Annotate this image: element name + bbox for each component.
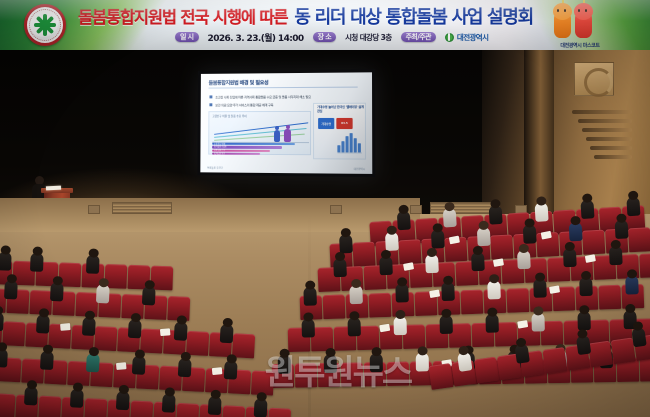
mascot-caption: 대전광역시 마스코트 <box>552 42 608 49</box>
figure-icon-blue <box>274 130 280 142</box>
slide-right-panel-bars <box>337 132 362 154</box>
banner-subinfo: 일 시 2026. 3. 23.(월) 14:00 장 소 시청 대강당 3층 … <box>175 30 488 44</box>
slide-footer-right: 대전광역시 <box>354 167 365 171</box>
bullet-square-icon <box>209 103 212 106</box>
seat-row <box>329 242 330 268</box>
slide-chart-label: 고령인구 비율 및 돌봄 수요 추이 <box>212 114 246 118</box>
banner-title: 돌봄통합지원법 전국 시행에 따른 동 리더 대상 통합돌봄 사업 설명회 <box>78 3 528 29</box>
slide-line-chart <box>212 120 309 142</box>
emblem-mark <box>34 14 56 36</box>
banner-host: 대전광역시 <box>445 32 489 43</box>
event-photo: 돌봄통합지원법 전국 시행에 따른 동 리더 대상 통합돌봄 사업 설명회 일 … <box>0 0 650 417</box>
podium-papers <box>46 186 61 191</box>
slide-right-panel-boxes: 기대수명 83.5 <box>318 118 353 129</box>
figure-icon-purple <box>284 129 291 142</box>
mascot-orange-icon <box>554 10 571 38</box>
wall-plate <box>410 205 422 214</box>
back-wall <box>0 198 420 232</box>
slide-title-rule <box>209 87 358 89</box>
daejeon-logo-icon <box>445 33 454 42</box>
audience-seating <box>0 214 650 417</box>
wall-vent <box>112 202 172 214</box>
slide-bar: 독거노인 가구 <box>212 153 260 156</box>
banner-title-blue: 동 리더 대상 통합돌봄 사업 설명회 <box>294 3 532 29</box>
slide-stat-box-right: 83.5 <box>336 118 352 129</box>
slide-stat-box-left: 기대수명 <box>318 118 334 129</box>
seat-row <box>317 266 318 292</box>
banner-pill-host: 주최/주관 <box>401 32 436 42</box>
city-emblem-icon <box>24 4 66 46</box>
wall-slats <box>572 110 632 172</box>
slide-bullet-2: 보건·의료·요양·주거 서비스의 통합 제공 체계 구축 <box>209 102 273 107</box>
wall-medallion-decoration <box>574 62 614 96</box>
slide-bullet-1: 초고령 사회 진입에 따른 지역사회 통합돌봄 수요 급증 및 돌봄 사각지대 … <box>209 94 310 99</box>
seat-row <box>300 294 301 320</box>
wall-plate <box>330 205 342 214</box>
slide-bar-group: 노인 인구 비율 장기요양 수급자 돌봄 필요 가구 독거노인 가구 <box>212 143 309 155</box>
slide-bullet-2-text: 보건·의료·요양·주거 서비스의 통합 제공 체계 구축 <box>215 102 273 107</box>
slide-bar-label: 독거노인 가구 <box>214 152 225 155</box>
bullet-square-icon <box>209 95 212 98</box>
slide-right-panel-title: 기대수명 늘어난 한국인 '웰에이징' 설계 관심 <box>317 106 364 114</box>
wall-plate <box>88 205 100 214</box>
banner-host-name: 대전광역시 <box>457 32 489 43</box>
projection-screen: 돌봄통합지원법 배경 및 필요성 초고령 사회 진입에 따른 지역사회 통합돌봄… <box>197 69 375 177</box>
slide-right-panel: 기대수명 늘어난 한국인 '웰에이징' 설계 관심 기대수명 83.5 <box>313 103 366 160</box>
banner-value-date: 2026. 3. 23.(월) 14:00 <box>208 31 304 44</box>
banner-title-red: 돌봄통합지원법 전국 시행에 따른 <box>78 4 287 28</box>
banner-pill-date: 일 시 <box>175 32 199 42</box>
seat-row <box>288 326 289 352</box>
slide-chart-card: 고령인구 비율 및 돌봄 수요 추이 노인 인구 비율 장기요양 수급자 돌봄 … <box>208 111 311 155</box>
event-banner: 돌봄통합지원법 전국 시행에 따른 동 리더 대상 통합돌봄 사업 설명회 일 … <box>0 0 650 50</box>
slide-footer-left: 통합돌봄 추진단 <box>207 165 223 169</box>
mascot-characters: 대전광역시 마스코트 <box>552 2 608 48</box>
mascot-red-icon <box>575 10 592 38</box>
banner-value-place: 시청 대강당 3층 <box>345 32 391 43</box>
slide-title: 돌봄통합지원법 배경 및 필요성 <box>209 79 269 86</box>
presentation-slide: 돌봄통합지원법 배경 및 필요성 초고령 사회 진입에 따른 지역사회 통합돌봄… <box>200 72 372 174</box>
slide-bullet-1-text: 초고령 사회 진입에 따른 지역사회 통합돌봄 수요 급증 및 돌봄 사각지대 … <box>215 94 311 99</box>
banner-pill-place: 장 소 <box>313 32 337 42</box>
